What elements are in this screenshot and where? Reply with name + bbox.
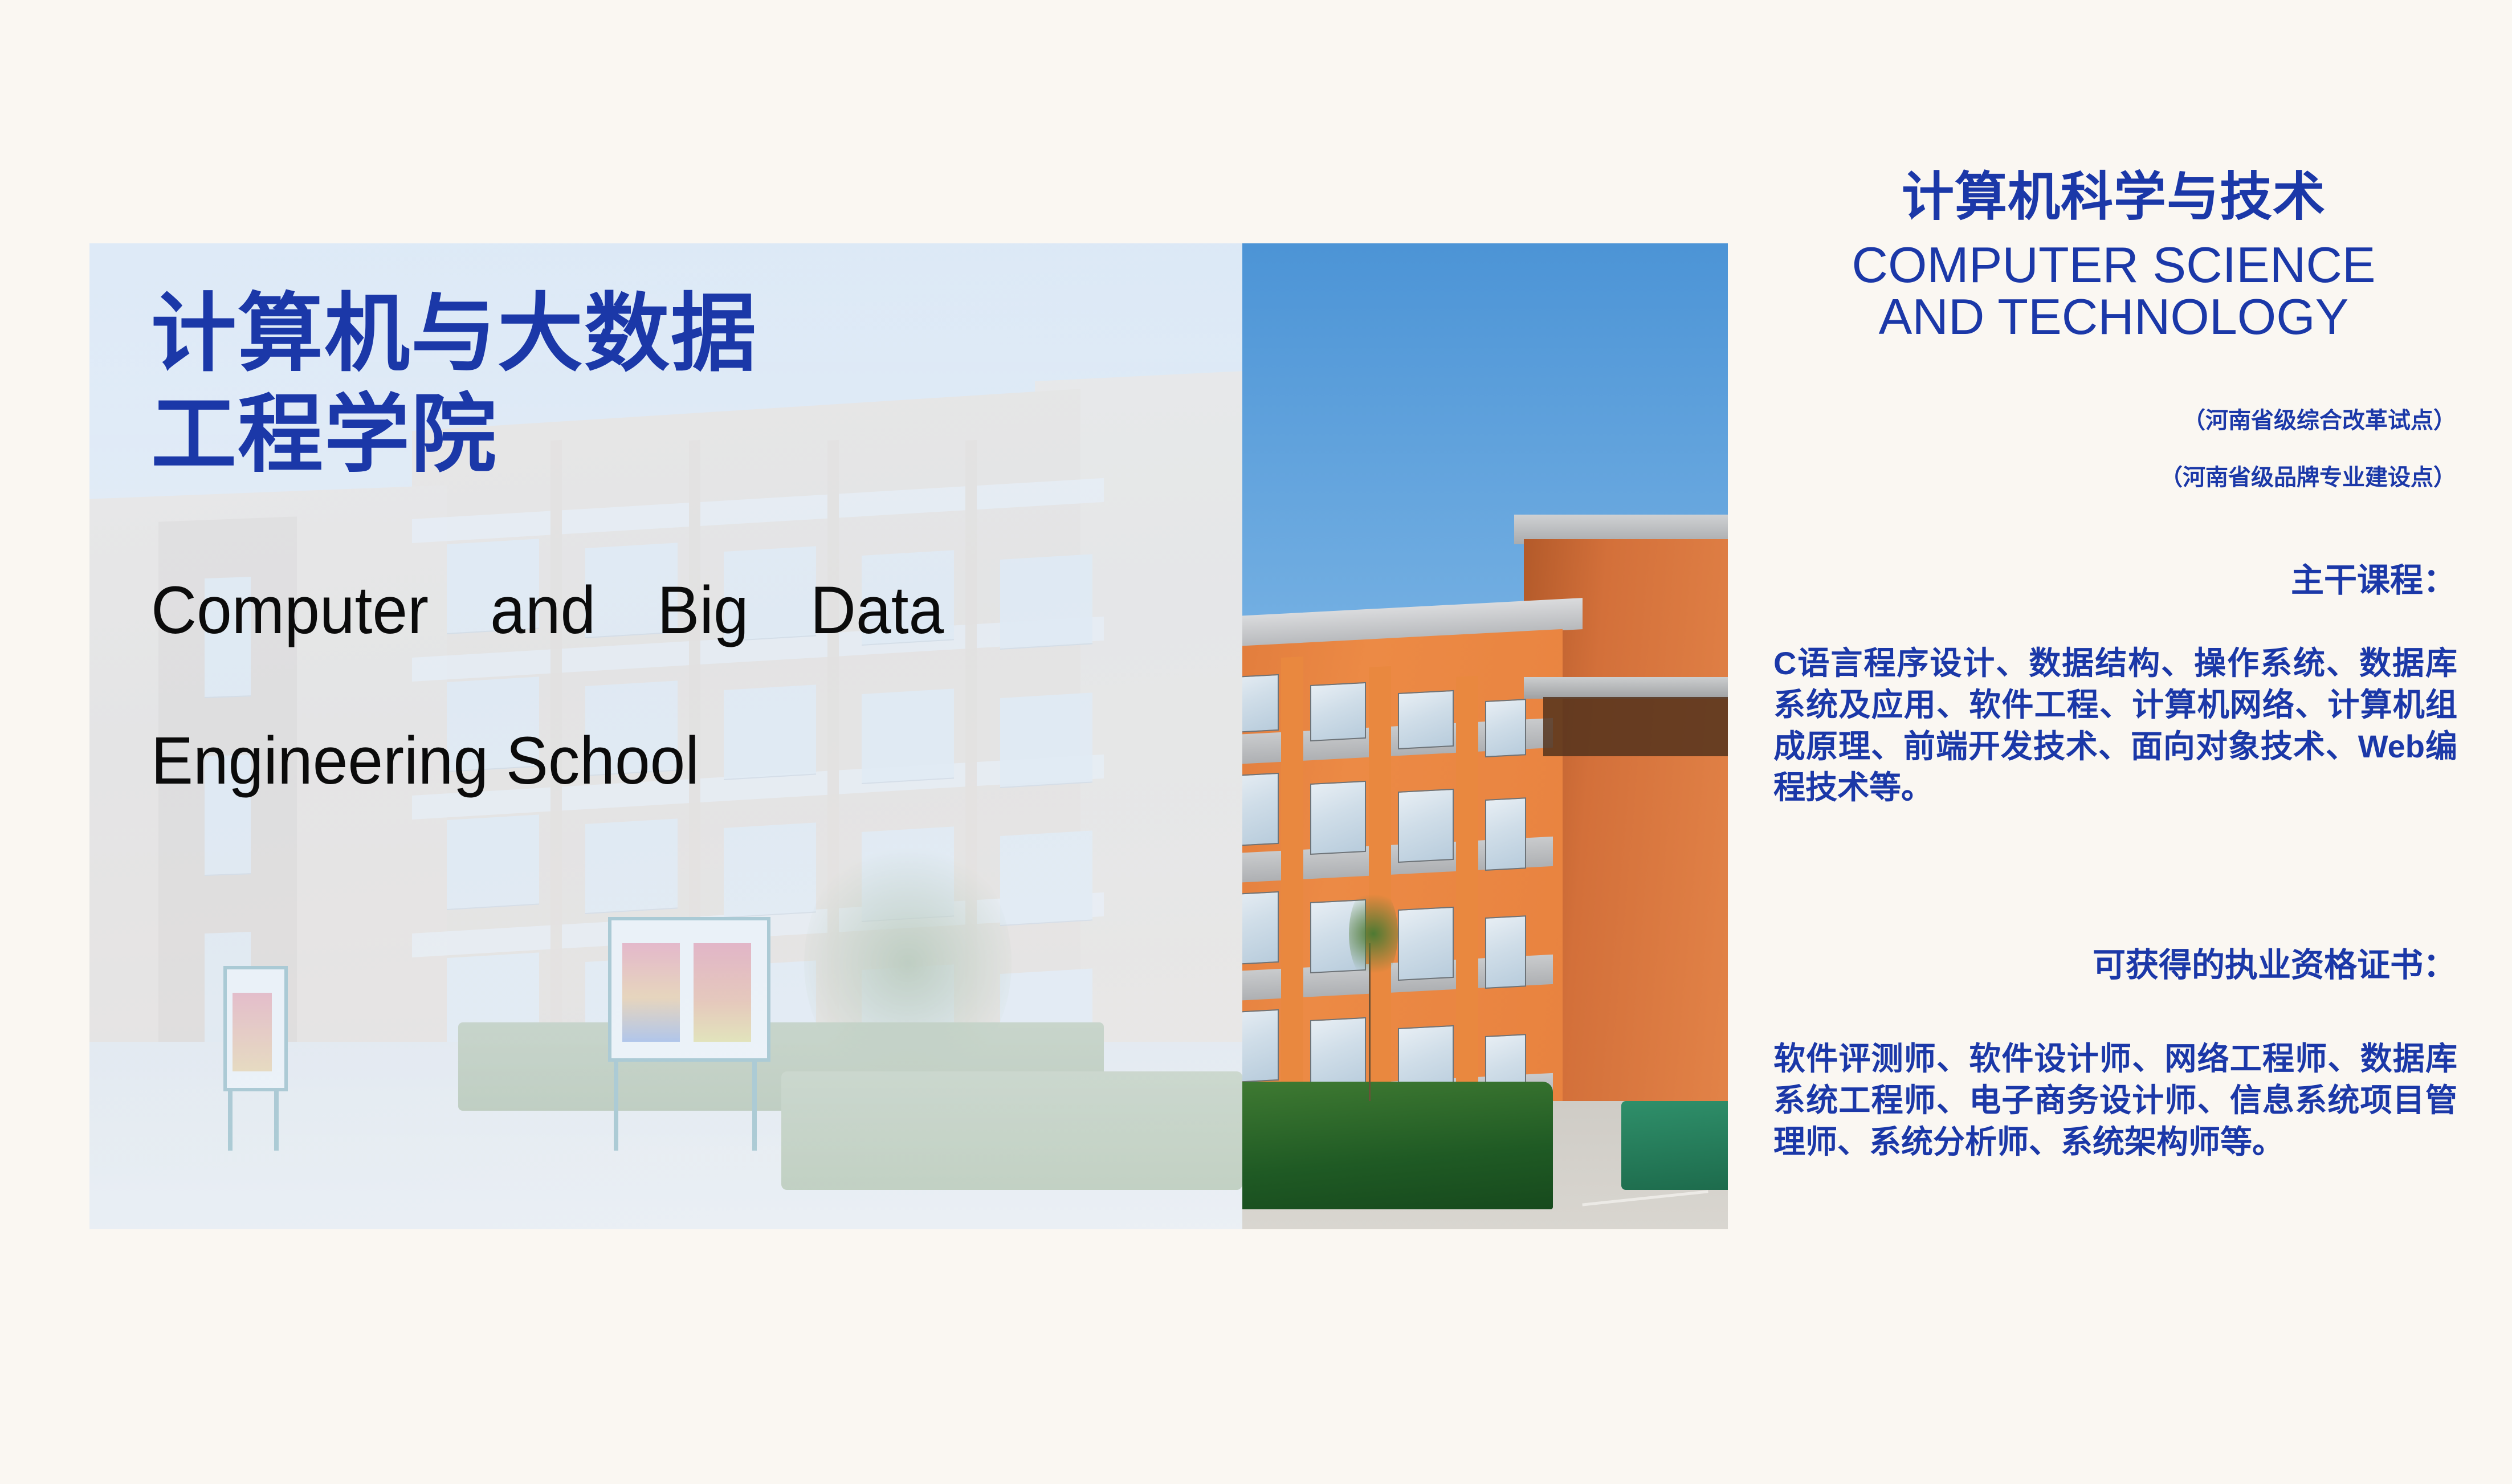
- campus-building-photo: [1242, 243, 1728, 1229]
- program-note-reform-pilot: （河南省级综合改革试点）: [1767, 409, 2461, 432]
- program-note-brand-major: （河南省级品牌专业建设点）: [1767, 466, 2461, 489]
- program-name-en: COMPUTER SCIENCE AND TECHNOLOGY: [1767, 239, 2461, 343]
- certificates-heading: 可获得的执业资格证书：: [1767, 949, 2461, 982]
- core-courses-body: C语言程序设计、数据结构、操作系统、数据库系统及应用、软件工程、计算机网络、计算…: [1773, 643, 2457, 809]
- program-name-en-line1: COMPUTER SCIENCE: [1767, 239, 2461, 291]
- certificates-body: 软件评测师、软件设计师、网络工程师、数据库系统工程师、电子商务设计师、信息系统项…: [1773, 1038, 2457, 1163]
- banner-chinese-title: 计算机与大数据 工程学院: [151, 283, 1029, 485]
- program-info-column: 计算机科学与技术 COMPUTER SCIENCE AND TECHNOLOGY…: [1767, 0, 2461, 1484]
- left-banner: 计算机与大数据 工程学院 Computer and Big Data Engin…: [89, 243, 1728, 1229]
- banner-english-title-line1: Computer and Big Data: [151, 573, 944, 648]
- banner-english-title: Computer and Big Data Engineering School: [151, 498, 976, 874]
- program-name-cn: 计算机科学与技术: [1767, 171, 2461, 223]
- program-name-en-line2: AND TECHNOLOGY: [1767, 291, 2461, 343]
- banner-english-title-line2: Engineering School: [151, 723, 976, 798]
- core-courses-heading: 主干课程：: [1767, 564, 2461, 597]
